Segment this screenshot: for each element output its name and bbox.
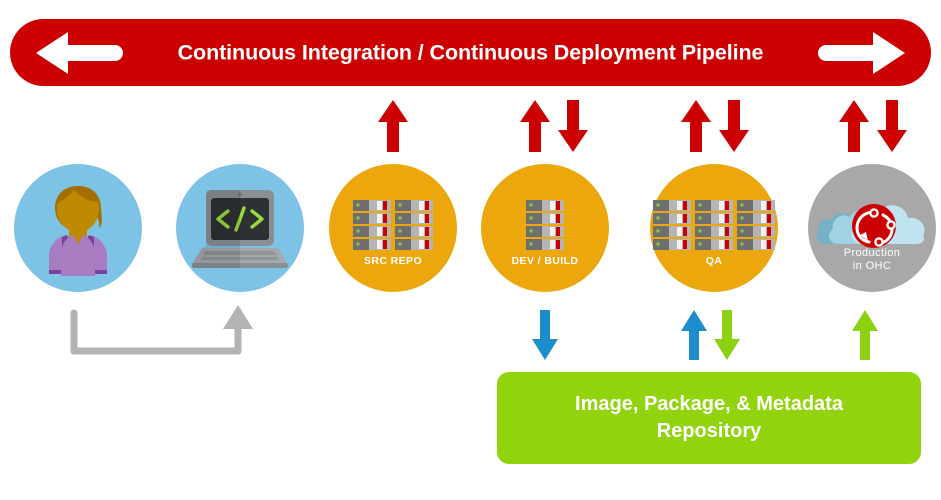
node-src-repo[interactable]: SRC REPO bbox=[329, 164, 457, 292]
arrow-pipeline-to-production-down bbox=[875, 99, 909, 153]
arrow-src-repo-to-pipeline-up bbox=[376, 99, 410, 153]
node-qa[interactable]: QA bbox=[650, 164, 778, 292]
arrow-qa-to-pipeline-up bbox=[679, 99, 713, 153]
node-production[interactable]: Production in OHC bbox=[808, 164, 936, 292]
cicd-diagram: Continuous Integration / Continuous Depl… bbox=[0, 0, 941, 500]
node-production-label-line2: in OHC bbox=[808, 260, 936, 273]
repository-label-line1: Image, Package, & Metadata bbox=[497, 391, 921, 418]
node-production-label: Production in OHC bbox=[808, 247, 936, 273]
repository-box[interactable]: Image, Package, & Metadata Repository bbox=[497, 372, 921, 464]
pipeline-banner: Continuous Integration / Continuous Depl… bbox=[10, 19, 931, 86]
node-dev-build[interactable]: DEV / BUILD bbox=[481, 164, 609, 292]
arrow-pipeline-to-qa-down bbox=[717, 99, 751, 153]
arrow-repository-to-production-up bbox=[851, 309, 879, 361]
repository-label-line2: Repository bbox=[497, 418, 921, 445]
arrow-production-to-pipeline-up bbox=[837, 99, 871, 153]
arrow-qa-to-repository-down bbox=[713, 309, 741, 361]
server-rack-icon bbox=[653, 200, 775, 250]
person-icon bbox=[40, 184, 116, 276]
arrow-right-icon bbox=[821, 29, 909, 77]
node-dev-build-label: DEV / BUILD bbox=[481, 255, 609, 268]
server-rack-icon bbox=[526, 200, 564, 250]
server-rack-icon bbox=[353, 200, 433, 250]
node-developer[interactable] bbox=[14, 164, 142, 292]
repository-label: Image, Package, & Metadata Repository bbox=[497, 391, 921, 445]
laptop-code-icon bbox=[192, 190, 288, 268]
page-title: Continuous Integration / Continuous Depl… bbox=[10, 40, 931, 65]
arrow-repository-to-qa-up bbox=[680, 309, 708, 361]
node-production-label-line1: Production bbox=[808, 247, 936, 260]
arrow-dev-build-to-pipeline-up bbox=[518, 99, 552, 153]
connector-developer-to-workstation bbox=[60, 305, 260, 360]
arrow-pipeline-to-dev-build-down bbox=[556, 99, 590, 153]
cloud-openshift-icon bbox=[816, 182, 928, 254]
node-src-repo-label: SRC REPO bbox=[329, 255, 457, 268]
node-workstation[interactable] bbox=[176, 164, 304, 292]
arrow-dev-build-to-repository-down bbox=[531, 309, 559, 361]
node-qa-label: QA bbox=[650, 255, 778, 268]
